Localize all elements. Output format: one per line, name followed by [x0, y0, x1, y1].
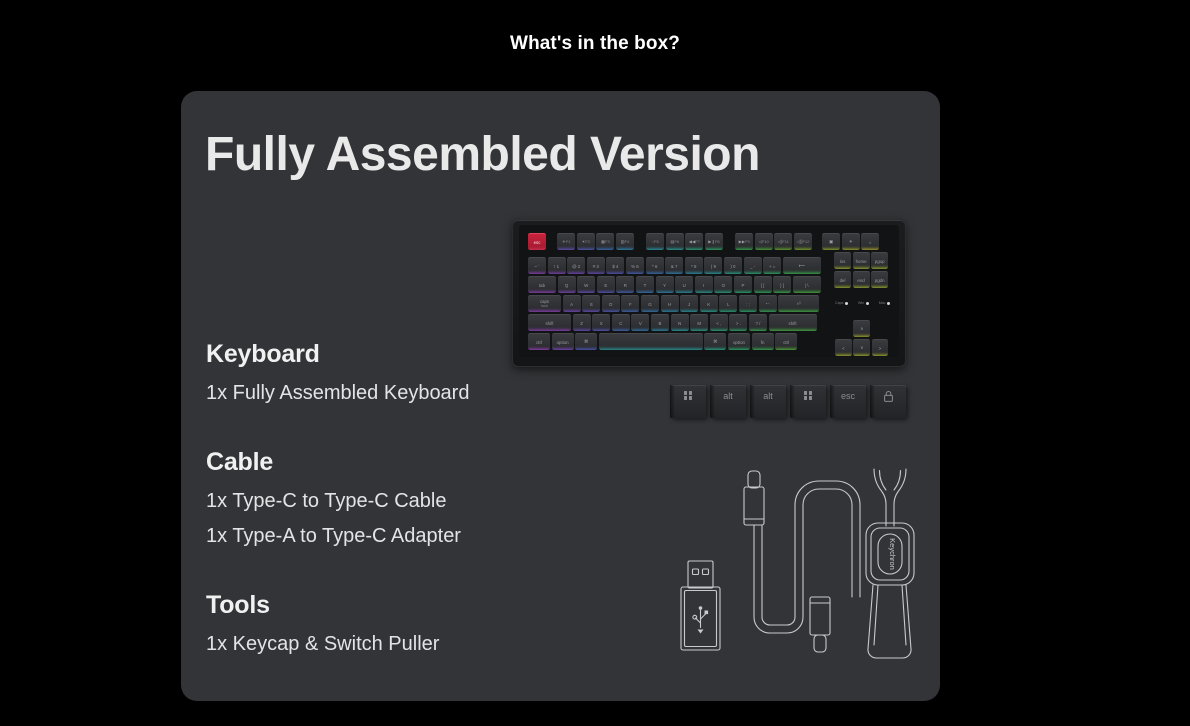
keyboard-key-p: P	[734, 276, 752, 293]
keyboard-key-: ◀◀F7	[685, 233, 703, 250]
keyboard-row-function-row: esc☀F1☀F2▦F3▥F4◌F5▤F6◀◀F7▶❙F8▶▶F9◁F10◁)F…	[528, 233, 891, 250]
page-title: What's in the box?	[0, 0, 1190, 55]
keyboard-key-a: A	[563, 295, 581, 312]
keyboard-key-w: W	[577, 276, 595, 293]
lock-icon	[884, 391, 893, 404]
keyboard-key-: ◌F5	[646, 233, 664, 250]
alt-keycap: alt	[710, 385, 746, 418]
keyboard-key-shift: shift	[769, 314, 817, 331]
keyboard-key-end: end	[853, 271, 870, 288]
keyboard-key-i: I	[695, 276, 713, 293]
keyboard-key	[814, 233, 821, 250]
grid-icon	[804, 391, 813, 400]
keyboard-key-option: option	[728, 333, 750, 350]
item-group-keyboard: Keyboard 1x Fully Assembled Keyboard	[206, 340, 536, 410]
alt-keycap: alt	[750, 385, 786, 418]
keycap-label: alt	[763, 391, 773, 401]
keyboard-key-: } ]	[773, 276, 791, 293]
keyboard-key-arrow-up: ∧	[853, 320, 870, 337]
keyboard-key-j: J	[680, 295, 698, 312]
keyboard-key	[548, 233, 556, 250]
keycap-label: alt	[723, 391, 733, 401]
keyboard-key-shift: shift	[528, 314, 571, 331]
keyboard-key-ctrl: ctrl	[775, 333, 797, 350]
keyboard-key-: > .	[729, 314, 747, 331]
keyboard-key-esc: esc	[528, 233, 546, 250]
indicator-led-caps: Caps	[835, 301, 848, 305]
keyboard-key-: ☼	[861, 233, 879, 250]
keyboard-case: esc☀F1☀F2▦F3▥F4◌F5▤F6◀◀F7▶❙F8▶▶F9◁F10◁)F…	[512, 219, 906, 367]
item-heading: Tools	[206, 591, 536, 620]
keyboard-key-v: V	[631, 314, 649, 331]
item-heading: Cable	[206, 448, 536, 477]
keyboard-key-del: del	[834, 271, 851, 288]
keyboard-nav-row: inshomepgup	[834, 252, 891, 269]
keyboard-indicator-leds: CapsWinMac	[835, 301, 890, 305]
keyboard-key-r: R	[616, 276, 634, 293]
keyboard-key-6: ^ 6	[646, 257, 664, 274]
whats-in-the-box-card: Fully Assembled Version Keyboard 1x Full…	[181, 91, 940, 701]
keyboard-key-ins: ins	[834, 252, 851, 269]
keyboard-key-pgdn: pgdn	[871, 271, 888, 288]
item-group-tools: Tools 1x Keycap & Switch Puller	[206, 591, 536, 661]
keyboard-key-: { [	[754, 276, 772, 293]
keyboard-key-3: # 3	[587, 257, 605, 274]
keyboard-key-m: M	[690, 314, 708, 331]
keyboard-key-: ⌘	[704, 333, 726, 350]
keyboard-key-: ◁))F12	[794, 233, 812, 250]
keyboard-key-k: K	[700, 295, 718, 312]
keyboard-key-c: C	[612, 314, 630, 331]
keyboard-key-2: @ 2	[567, 257, 585, 274]
usb-a-adapter-icon	[681, 561, 720, 650]
item-group-cable: Cable 1x Type-C to Type-C Cable 1x Type-…	[206, 448, 536, 553]
keyboard-key-t: T	[636, 276, 654, 293]
keyboard-key-tab: tab	[528, 276, 556, 293]
keyboard-key-home: home	[853, 252, 870, 269]
keyboard-key-: + =	[763, 257, 781, 274]
keyboard-key-: : ;	[739, 295, 757, 312]
keyboard-key-: ▣	[822, 233, 840, 250]
keyboard-key-: | \	[793, 276, 821, 293]
keyboard-key-x: X	[592, 314, 610, 331]
indicator-led-win: Win	[858, 301, 869, 305]
keyboard-key-: ⏎	[778, 295, 819, 312]
keyboard-key-: ☀F1	[557, 233, 575, 250]
keyboard-key-e: E	[597, 276, 615, 293]
keyboard-key-arrow-right: >	[872, 339, 889, 356]
keyboard-key-b: B	[651, 314, 669, 331]
usb-c-cable-icon	[744, 471, 860, 652]
item-heading: Keyboard	[206, 340, 536, 369]
item-line: 1x Fully Assembled Keyboard	[206, 376, 536, 410]
keyboard-key-5: % 5	[626, 257, 644, 274]
esc-keycap: esc	[830, 385, 866, 418]
keyboard-plate: esc☀F1☀F2▦F3▥F4◌F5▤F6◀◀F7▶❙F8▶▶F9◁F10◁)F…	[519, 225, 899, 357]
keyboard-key	[725, 233, 734, 250]
keyboard-key-: ☀F2	[577, 233, 595, 250]
keyboard-key-: ⌘	[575, 333, 597, 350]
keyboard-key-arrow-down: ∨	[853, 339, 870, 356]
windows-grid-keycap	[670, 385, 706, 418]
keyboard-arrow-cluster: ∧<∨>	[835, 320, 890, 358]
item-line: 1x Type-C to Type-C Cable	[206, 484, 536, 518]
keyboard-nav-row: delendpgdn	[834, 271, 891, 288]
lock-keycap	[870, 385, 906, 418]
keyboard-key-option: option	[552, 333, 574, 350]
keyboard-key-: ~ `	[528, 257, 546, 274]
keyboard-key-fn: fn	[752, 333, 774, 350]
keyboard-key-ctrl: ctrl	[528, 333, 550, 350]
keyboard-key-: ▤F6	[666, 233, 684, 250]
included-items-list: Keyboard 1x Fully Assembled Keyboard Cab…	[206, 340, 536, 662]
keyboard-key-h: H	[661, 295, 679, 312]
keyboard-key-l: L	[719, 295, 737, 312]
keyboard-key-0: ) 0	[724, 257, 742, 274]
extra-keycaps-set: altaltesc	[670, 385, 906, 418]
keyboard-key-: ⟵	[783, 257, 821, 274]
keyboard-key-: " '	[759, 295, 777, 312]
keyboard-key-1: ! 1	[548, 257, 566, 274]
keyboard-key-q: Q	[558, 276, 576, 293]
accessories-illustration: Keychron	[670, 461, 920, 676]
keyboard-key-: < ,	[710, 314, 728, 331]
keyboard-key-: ▥F4	[616, 233, 634, 250]
keyboard-key-: ☀	[842, 233, 860, 250]
keyboard-key-o: O	[714, 276, 732, 293]
keyboard-key-f: F	[621, 295, 639, 312]
item-line: 1x Keycap & Switch Puller	[206, 627, 536, 661]
keyboard-key	[636, 233, 645, 250]
windows-grid-keycap	[790, 385, 826, 418]
keyboard-key-: ▶▶F9	[735, 233, 753, 250]
keyboard-key-: ◁F10	[755, 233, 773, 250]
keyboard-arrow-row-top: ∧	[835, 320, 890, 337]
keyboard-key-arrow-left: <	[835, 339, 852, 356]
keyboard-image: esc☀F1☀F2▦F3▥F4◌F5▤F6◀◀F7▶❙F8▶▶F9◁F10◁)F…	[512, 219, 906, 367]
keyboard-key	[599, 333, 703, 350]
keyboard-key-7: & 7	[665, 257, 683, 274]
keyboard-key-y: Y	[656, 276, 674, 293]
keyboard-key-d: D	[602, 295, 620, 312]
card-title: Fully Assembled Version	[205, 127, 760, 182]
keyboard-key-u: U	[675, 276, 693, 293]
keyboard-key-: _ -	[744, 257, 762, 274]
keyboard-key-: ◁)F11	[774, 233, 792, 250]
keyboard-key-s: S	[582, 295, 600, 312]
keyboard-key-4: $ 4	[606, 257, 624, 274]
keyboard-key-: ? /	[749, 314, 767, 331]
keycap-label: esc	[841, 391, 855, 401]
keyboard-arrow-row-bottom: <∨>	[835, 339, 890, 356]
item-line: 1x Type-A to Type-C Adapter	[206, 519, 536, 553]
grid-icon	[684, 391, 693, 400]
keyboard-key-z: Z	[573, 314, 591, 331]
keyboard-key-8: * 8	[685, 257, 703, 274]
keyboard-key-9: ( 9	[704, 257, 722, 274]
keyboard-key-n: N	[671, 314, 689, 331]
keyboard-key-: ▶❙F8	[705, 233, 723, 250]
indicator-led-mac: Mac	[879, 301, 890, 305]
keyboard-key-: ▦F3	[596, 233, 614, 250]
puller-brand-label: Keychron	[888, 538, 897, 570]
keyboard-key-pgup: pgup	[871, 252, 888, 269]
keyboard-key-g: G	[641, 295, 659, 312]
keyboard-nav-cluster: inshomepgupdelendpgdn	[834, 252, 891, 290]
keyboard-key-caps: capslock	[528, 295, 561, 312]
